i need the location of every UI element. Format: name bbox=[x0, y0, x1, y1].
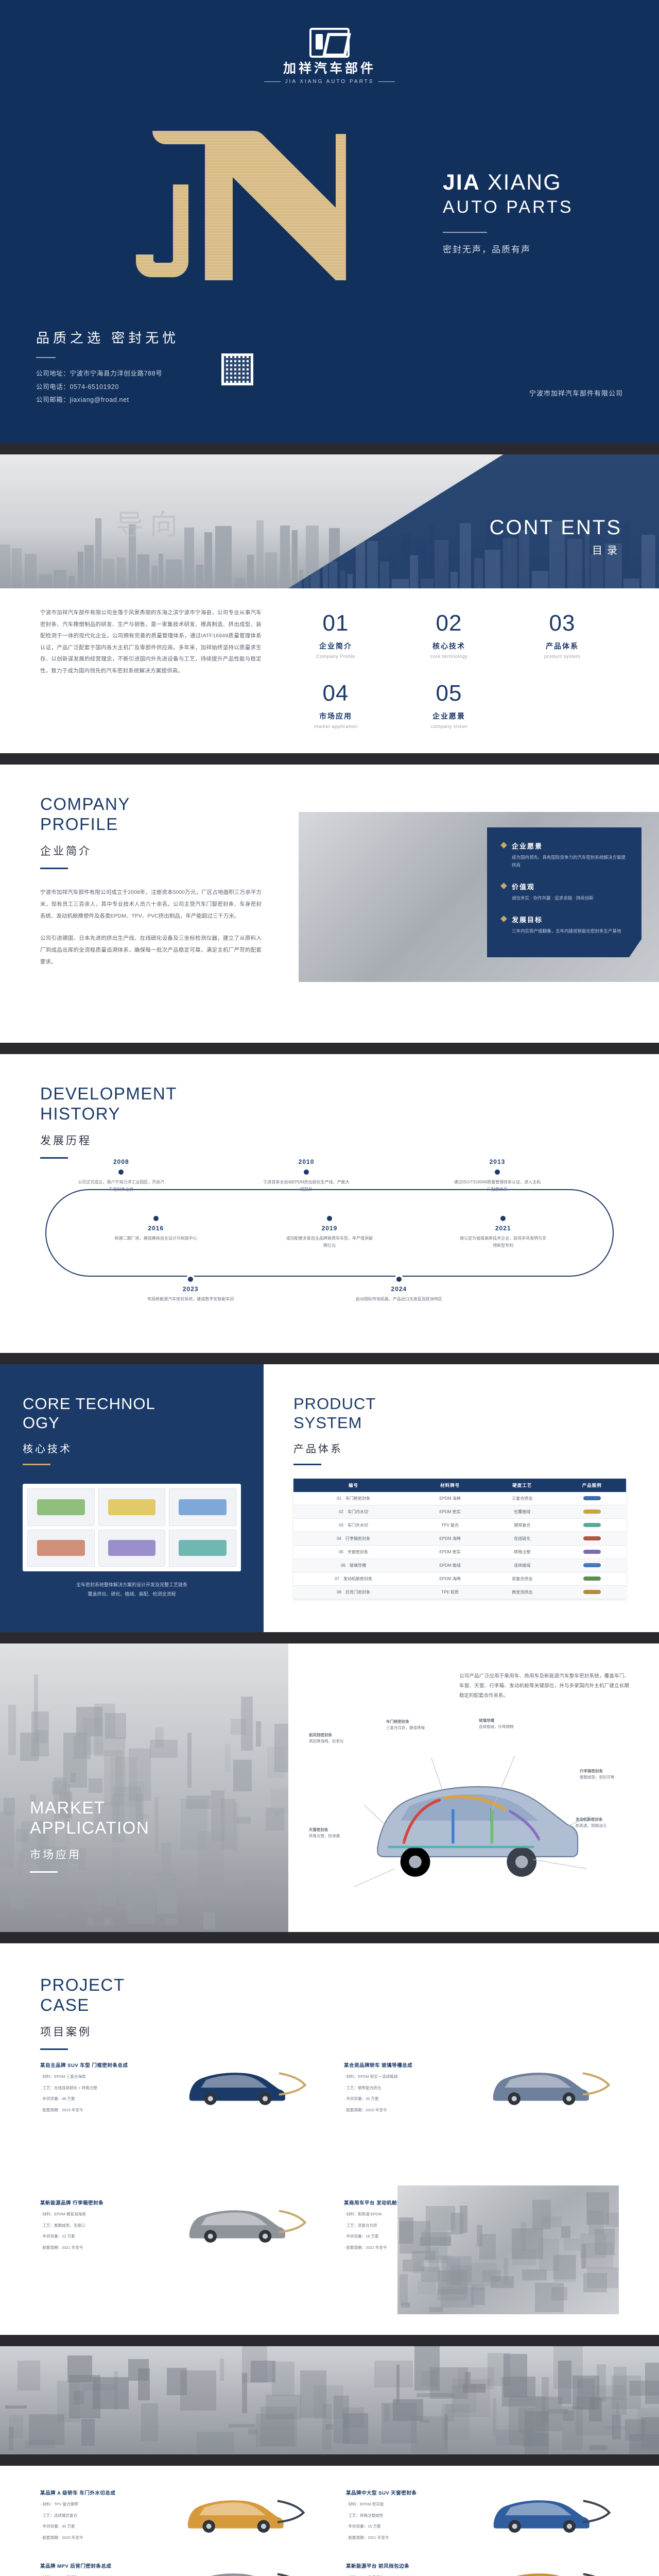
car-silhouette-icon bbox=[174, 2563, 313, 2576]
project-card-line: · 材料：EPDM 微发泡海绵 bbox=[40, 2211, 167, 2218]
logo-mark-icon bbox=[309, 28, 350, 58]
slide-development-history: DEVELOPMENT HISTORY 发展历程 2008 公司正式成立，落户宁… bbox=[0, 1054, 659, 1353]
history-title-en: DEVELOPMENT HISTORY bbox=[40, 1084, 177, 1124]
toc-body: 宁波市加祥汽车部件有限公司坐落于风景秀丽的东海之滨宁波市宁海县，公司专业从事汽车… bbox=[0, 589, 659, 753]
texture-block bbox=[127, 1896, 155, 1924]
texture-block bbox=[74, 1736, 91, 1759]
table-row[interactable]: 04 行李箱密封条EPDM 海绵在线硫化 bbox=[293, 1532, 626, 1546]
seal-profile-icon bbox=[179, 1499, 227, 1515]
toc-heading: CONT ENTS 目录 bbox=[490, 516, 622, 557]
project-card[interactable]: 某自主品牌 SUV 车型 门框密封条总成· 材料：EPDM 三复合海绵· 工艺：… bbox=[40, 2062, 315, 2177]
product-cell-material: EPDM 海绵 bbox=[413, 1532, 487, 1546]
profile-heading: COMPANY PROFILE 企业简介 bbox=[40, 794, 262, 869]
cover-contact-block: 品质之选 密封无忧 公司地址：宁波市宁海县力洋创业路788号 公司电话：0574… bbox=[36, 328, 179, 407]
building-block bbox=[25, 554, 37, 588]
texture-block bbox=[522, 2269, 547, 2280]
callout-title: 发动机舱密封条 bbox=[576, 1817, 603, 1822]
toc-item-label-en: product system bbox=[506, 654, 619, 659]
slide-gap bbox=[0, 1353, 659, 1364]
texture-block bbox=[203, 1912, 215, 1929]
texture-block bbox=[225, 1744, 231, 1772]
project-card-title: 某新能源品牌 行李箱密封条 bbox=[40, 2199, 167, 2207]
case-card-line: · 年供货量：30 万套 bbox=[40, 2523, 166, 2531]
market-callout-2: 车门框密封条 三复合共挤，静音降噪 bbox=[386, 1719, 442, 1731]
texture-block bbox=[418, 2281, 436, 2294]
product-cell-figure bbox=[558, 1559, 626, 1572]
toc-item-number: 01 bbox=[279, 612, 392, 635]
project-card-line: · 配套周期：2021 年至今 bbox=[40, 2244, 167, 2252]
timeline-dot-icon bbox=[153, 1216, 159, 1221]
seal-profile-icon bbox=[108, 1540, 156, 1556]
texture-block bbox=[583, 2243, 613, 2268]
texture-block bbox=[438, 2270, 467, 2294]
seal-profile-swatch-icon bbox=[583, 1577, 601, 1581]
logo-english-text: JIA XIANG AUTO PARTS bbox=[285, 79, 374, 84]
qr-code-icon bbox=[221, 353, 253, 385]
project-title-cn: 项目案例 bbox=[40, 2024, 125, 2039]
market-callout-6: 天窗密封条 转角注塑，防渗漏 bbox=[309, 1827, 358, 1839]
timeline-year: 2019 bbox=[281, 1225, 378, 1232]
texture-block bbox=[180, 2370, 216, 2411]
texture-block bbox=[57, 1873, 60, 1893]
product-title-en-l2: SYSTEM bbox=[293, 1414, 362, 1432]
toc-item-label-en: market application bbox=[279, 724, 392, 730]
tech-cell-1 bbox=[27, 1488, 95, 1526]
slide-gap bbox=[0, 443, 659, 454]
texture-block bbox=[342, 2408, 364, 2428]
building-block bbox=[435, 540, 448, 588]
table-row[interactable]: 01 车门框密封条EPDM 海绵三复合挤出 bbox=[293, 1492, 626, 1505]
texture-block bbox=[425, 2230, 447, 2263]
toc-item-04[interactable]: 04 市场应用 market application bbox=[279, 682, 392, 730]
slide-gap bbox=[0, 1932, 659, 1943]
case-card-line: · 材料：EPDM 密实胶 bbox=[346, 2501, 472, 2509]
toc-item-label-en: core technology bbox=[392, 654, 506, 659]
texture-block bbox=[541, 2216, 562, 2227]
texture-block bbox=[564, 2239, 580, 2251]
market-callout-1: 前风挡密封条 高回弹海绵，抗老化 bbox=[309, 1732, 358, 1744]
slide-gap bbox=[0, 1043, 659, 1054]
seal-profile-swatch-icon bbox=[583, 1590, 601, 1594]
market-heading: MARKET APPLICATION 市场应用 bbox=[30, 1798, 149, 1873]
texture-block bbox=[477, 2225, 482, 2246]
timeline-text: 布局新能源汽车密封系统，建成数字化智能车间 bbox=[142, 1296, 239, 1303]
toc-intro-paragraph: 宁波市加祥汽车部件有限公司坐落于风景秀丽的东海之滨宁波市宁海县，公司专业从事汽车… bbox=[40, 607, 262, 676]
cover-title-jia: JIA bbox=[443, 170, 480, 195]
texture-block bbox=[504, 2258, 508, 2284]
history-title-en-l1: DEVELOPMENT bbox=[40, 1084, 177, 1103]
tech-cell-4 bbox=[27, 1530, 95, 1567]
texture-block bbox=[583, 2273, 607, 2292]
texture-block bbox=[25, 1892, 38, 1897]
case-card-line: · 年供货量：15 万套 bbox=[346, 2523, 472, 2531]
company-logo: 加祥汽车部件 JIA XIANG AUTO PARTS bbox=[242, 28, 417, 84]
product-cell-no: 07 发动机舱密封条 bbox=[293, 1572, 413, 1586]
qr-code-cells bbox=[224, 356, 251, 383]
core-technology-pane: CORE TECHNOL OGY 核心技术 全车密封系统整体解决方案的设计开发及… bbox=[0, 1364, 264, 1632]
texture-block bbox=[242, 2373, 247, 2413]
toc-title-en: CONT ENTS bbox=[490, 516, 622, 539]
market-callout-4: 行李箱密封条 整圈成型，密封可靠 bbox=[580, 1768, 629, 1781]
building-block bbox=[247, 555, 254, 588]
toc-item-02[interactable]: 02 核心技术 core technology bbox=[392, 612, 506, 659]
toc-item-label-cn: 企业愿景 bbox=[392, 711, 506, 721]
logo-chinese-name: 加祥汽车部件 bbox=[242, 62, 417, 76]
building-block bbox=[392, 579, 409, 588]
table-row[interactable]: 03 车门外水切TPV 复合钢带复合 bbox=[293, 1519, 626, 1532]
project-card[interactable]: 某合资品牌轿车 玻璃导槽总成· 材料：EPDM 密实 + 连续植绒· 工艺：钢带… bbox=[344, 2062, 619, 2177]
toc-item-label-cn: 核心技术 bbox=[392, 641, 506, 651]
building-block bbox=[152, 566, 158, 588]
toc-item-number: 04 bbox=[279, 682, 392, 705]
texture-block bbox=[56, 1914, 66, 1918]
texture-block bbox=[18, 1852, 23, 1876]
profile-title-cn: 企业简介 bbox=[40, 843, 262, 858]
case-card-title: 某品牌 MPV 后背门密封条总成 bbox=[40, 2563, 166, 2570]
texture-block bbox=[251, 2361, 275, 2382]
project-title-en-l1: PROJECT bbox=[40, 1975, 125, 1994]
product-col-material: 材料牌号 bbox=[413, 1479, 487, 1492]
project-card-line: · 年供货量：22 万套 bbox=[40, 2233, 167, 2241]
project-card-line: · 年供货量：48 万套 bbox=[40, 2095, 167, 2103]
seal-profile-swatch-icon bbox=[583, 1563, 601, 1567]
texture-block bbox=[87, 1917, 93, 1926]
product-cell-process: 包覆植绒 bbox=[487, 1505, 558, 1519]
slide-cover: 加祥汽车部件 JIA XIANG AUTO PARTS bbox=[0, 0, 659, 443]
timeline-text: 通过ISO/TS16949质量管理体系认证，进入主机厂配套体系 bbox=[448, 1179, 546, 1193]
timeline-dot-icon bbox=[188, 1277, 193, 1282]
texture-block bbox=[150, 1740, 178, 1758]
callout-desc: 三复合共挤，静音降噪 bbox=[386, 1725, 425, 1730]
product-cell-no: 04 行李箱密封条 bbox=[293, 1532, 413, 1546]
profile-paragraph-2: 公司引进德国、日本先进的挤出生产线、在线硫化设备及三坐标检测仪器，建立了从原料入… bbox=[40, 933, 262, 968]
tech-cell-5 bbox=[98, 1530, 166, 1567]
texture-block bbox=[325, 2424, 333, 2430]
timeline-node-2023[interactable]: 2023 布局新能源汽车密封系统，建成数字化智能车间 bbox=[142, 1277, 239, 1303]
market-callout-5: 发动机舱密封条 耐高温，阻隔油污 bbox=[576, 1817, 629, 1829]
timeline-year: 2010 bbox=[257, 1158, 355, 1165]
profile-card-desc: 成为国内领先、具有国际竞争力的汽车密封系统解决方案提供商 bbox=[512, 854, 627, 869]
tech-diagram-grid bbox=[23, 1484, 241, 1571]
project-card-line: · 材料：EPDM 密实 + 连续植绒 bbox=[344, 2073, 471, 2081]
building-block bbox=[623, 579, 639, 588]
profile-title-en-l1: COMPANY bbox=[40, 794, 130, 814]
project-card-art bbox=[479, 2062, 619, 2109]
case-card-title: 某新能源平台 前风挡包边条 bbox=[346, 2563, 472, 2570]
project-card-title: 某合资品牌轿车 玻璃导槽总成 bbox=[344, 2062, 471, 2070]
cover-title-line1: JIA XIANG bbox=[443, 170, 574, 195]
texture-block bbox=[414, 2346, 440, 2391]
tech-cell-2 bbox=[98, 1488, 166, 1526]
texture-block bbox=[9, 2427, 13, 2451]
texture-block bbox=[8, 1705, 16, 1755]
callout-desc: 高回弹海绵，抗老化 bbox=[309, 1739, 344, 1743]
callout-title: 前风挡密封条 bbox=[309, 1733, 332, 1737]
tech-title-en-l2: OGY bbox=[23, 1414, 60, 1432]
slide-road-strip-photo bbox=[0, 2346, 659, 2454]
texture-block bbox=[104, 1917, 111, 1925]
tech-title-cn: 核心技术 bbox=[23, 1440, 241, 1455]
slide-gap bbox=[0, 1632, 659, 1643]
building-block bbox=[367, 541, 378, 588]
product-cell-figure bbox=[558, 1519, 626, 1532]
case-card[interactable]: 某品牌 A 级轿车 车门外水切总成· 材料：TPV 复合钢带· 工艺：连续辊压复… bbox=[40, 2489, 313, 2542]
timeline-text: 新建二期厂房，建成模具自主设计与制造中心 bbox=[107, 1235, 205, 1242]
building-block bbox=[265, 552, 277, 588]
texture-block bbox=[237, 1817, 251, 1824]
product-title-en: PRODUCT SYSTEM bbox=[293, 1394, 626, 1432]
history-heading: DEVELOPMENT HISTORY 发展历程 bbox=[40, 1084, 177, 1159]
seal-profile-icon bbox=[179, 1540, 227, 1556]
product-col-process: 硬度工艺 bbox=[487, 1479, 558, 1492]
market-title-en: MARKET APPLICATION bbox=[30, 1798, 149, 1838]
texture-block bbox=[400, 2274, 408, 2305]
tech-cell-3 bbox=[169, 1488, 236, 1526]
market-title-en-l1: MARKET bbox=[30, 1798, 106, 1817]
product-cell-no: 06 玻璃导槽 bbox=[293, 1559, 413, 1572]
slide-gap bbox=[0, 2454, 659, 2466]
table-row[interactable]: 07 发动机舱密封条EPDM 海绵双复合挤出 bbox=[293, 1572, 626, 1586]
texture-block bbox=[185, 1895, 206, 1902]
tech-title-en: CORE TECHNOL OGY bbox=[23, 1394, 241, 1432]
contact-phone: 公司电话：0574-65101920 bbox=[36, 381, 179, 394]
logo-english-name: JIA XIANG AUTO PARTS bbox=[242, 79, 417, 84]
timeline-text: 成功配套多家自主品牌乘用车车型，年产值突破两亿元 bbox=[281, 1235, 378, 1249]
case-card-art bbox=[480, 2563, 619, 2576]
table-row[interactable]: 06 玻璃导槽EPDM 植绒连续植绒 bbox=[293, 1559, 626, 1572]
case-gallery-grid: 某品牌 A 级轿车 车门外水切总成· 材料：TPV 复合钢带· 工艺：连续辊压复… bbox=[40, 2489, 619, 2576]
history-title-rule bbox=[40, 1157, 68, 1159]
product-cell-figure bbox=[558, 1505, 626, 1519]
timeline-dot-icon bbox=[118, 1170, 124, 1175]
case-card-line: · 工艺：转角注塑成型 bbox=[346, 2512, 472, 2520]
profile-card-row-vision: 企业愿景 成为国内领先、具有国际竞争力的汽车密封系统解决方案提供商 bbox=[501, 841, 627, 869]
slide-tech-and-products: CORE TECHNOL OGY 核心技术 全车密封系统整体解决方案的设计开发及… bbox=[0, 1364, 659, 1632]
project-card-art bbox=[175, 2062, 315, 2109]
building-block bbox=[166, 560, 182, 588]
building-block bbox=[12, 548, 22, 588]
diamond-bullet-icon bbox=[500, 842, 507, 849]
building-block bbox=[215, 526, 232, 588]
seal-profile-swatch-icon bbox=[583, 1550, 601, 1554]
toc-title-cn: 目录 bbox=[490, 542, 622, 557]
product-cell-figure bbox=[558, 1572, 626, 1586]
product-cell-process: 转角注塑 bbox=[487, 1546, 558, 1559]
seal-profile-swatch-icon bbox=[583, 1496, 601, 1500]
case-card-line: · 配套周期：2021 年至今 bbox=[346, 2534, 472, 2542]
texture-block bbox=[429, 2307, 443, 2312]
building-block bbox=[117, 557, 126, 588]
case-card[interactable]: 某品牌中大型 SUV 天窗密封条· 材料：EPDM 密实胶· 工艺：转角注塑成型… bbox=[346, 2489, 619, 2542]
product-cell-material: TPE 软质 bbox=[413, 1586, 487, 1599]
building-block bbox=[348, 574, 353, 588]
toc-hero-photo: 导向 CONT ENTS 目录 bbox=[0, 454, 659, 588]
history-title-cn: 发展历程 bbox=[40, 1132, 177, 1148]
project-title-en-l2: CASE bbox=[40, 1995, 90, 2014]
callout-desc: 连续植绒，升降顺畅 bbox=[479, 1724, 514, 1729]
building-block bbox=[641, 535, 655, 588]
timeline-year: 2024 bbox=[350, 1285, 448, 1293]
timeline-dot-icon bbox=[327, 1216, 332, 1221]
case-card-art bbox=[174, 2563, 313, 2576]
timeline-node-2021[interactable]: 2021 被认定为省级高新技术企业，获得多项发明与实用新型专利 bbox=[454, 1216, 552, 1249]
texture-block bbox=[132, 1872, 161, 1876]
table-row[interactable]: 08 后背门密封条TPE 软质微发泡挤出 bbox=[293, 1586, 626, 1599]
timeline-dot-icon bbox=[495, 1170, 500, 1175]
timeline-text: 引进首条全自动EPDM挤出硫化生产线，产能大幅提升 bbox=[257, 1179, 355, 1193]
timeline-node-2013[interactable]: 2013 通过ISO/TS16949质量管理体系认证，进入主机厂配套体系 bbox=[448, 1158, 546, 1193]
texture-block bbox=[411, 2416, 448, 2454]
logo-rule-left bbox=[264, 81, 281, 82]
texture-block bbox=[589, 2445, 608, 2450]
texture-block bbox=[81, 2419, 95, 2446]
texture-block bbox=[97, 1892, 116, 1905]
product-cell-no: 08 后背门密封条 bbox=[293, 1586, 413, 1599]
table-row[interactable]: 05 天窗密封条EPDM 密实转角注塑 bbox=[293, 1546, 626, 1559]
texture-block bbox=[512, 2228, 543, 2259]
timeline-year: 2021 bbox=[454, 1225, 552, 1232]
project-card[interactable]: 某新能源品牌 行李箱密封条· 材料：EPDM 微发泡海绵· 工艺：整圈成型，无接… bbox=[40, 2199, 315, 2314]
toc-item-01[interactable]: 01 企业简介 Company Profile bbox=[279, 612, 392, 659]
timeline-node-2016[interactable]: 2016 新建二期厂房，建成模具自主设计与制造中心 bbox=[107, 1216, 205, 1242]
project-card-text: 某合资品牌轿车 玻璃导槽总成· 材料：EPDM 密实 + 连续植绒· 工艺：钢带… bbox=[344, 2062, 471, 2114]
contact-email: 公司邮箱：jiaxiang@froad.net bbox=[36, 394, 179, 407]
table-row[interactable]: 02 车门内水切EPDM 密实包覆植绒 bbox=[293, 1505, 626, 1519]
car-silhouette-icon bbox=[480, 2563, 619, 2576]
product-cell-no: 02 车门内水切 bbox=[293, 1505, 413, 1519]
product-cell-figure bbox=[558, 1492, 626, 1505]
texture-block bbox=[553, 2255, 576, 2279]
timeline-node-2019[interactable]: 2019 成功配套多家自主品牌乘用车车型，年产值突破两亿元 bbox=[281, 1216, 378, 1249]
slide-project-case: PROJECT CASE 项目案例 某自主品牌 SUV 车型 门框密封条总成· … bbox=[0, 1943, 659, 2335]
cover-slogan: 品质之选 密封无忧 bbox=[36, 328, 179, 347]
case-card-title: 某品牌 A 级轿车 车门外水切总成 bbox=[40, 2489, 166, 2497]
timeline-node-2010[interactable]: 2010 引进首条全自动EPDM挤出硫化生产线，产能大幅提升 bbox=[257, 1158, 355, 1193]
texture-block bbox=[586, 2192, 609, 2225]
texture-block bbox=[5, 2405, 27, 2409]
seal-profile-swatch-icon bbox=[583, 1523, 601, 1527]
texture-block bbox=[274, 1724, 288, 1772]
slide-table-of-contents: 导向 CONT ENTS 目录 宁波市加祥汽车部件有限公司坐落于风景秀丽的东海之… bbox=[0, 454, 659, 753]
car-silhouette-icon bbox=[174, 2489, 313, 2537]
building-block bbox=[39, 574, 52, 588]
cover-title-rule bbox=[443, 232, 487, 233]
texture-block bbox=[645, 2363, 659, 2404]
case-card-title: 某品牌中大型 SUV 天窗密封条 bbox=[346, 2489, 472, 2497]
texture-block bbox=[374, 2361, 413, 2387]
building-block bbox=[234, 578, 246, 588]
car-silhouette-icon bbox=[175, 2062, 315, 2109]
building-block bbox=[204, 532, 212, 588]
case-card-text: 某品牌 A 级轿车 车门外水切总成· 材料：TPV 复合钢带· 工艺：连续辊压复… bbox=[40, 2489, 166, 2542]
building-block bbox=[380, 562, 389, 588]
slide-gap bbox=[0, 753, 659, 765]
building-block bbox=[450, 572, 458, 588]
callout-desc: 整圈成型，密封可靠 bbox=[580, 1775, 615, 1780]
market-street-photo bbox=[0, 1643, 288, 1932]
texture-block bbox=[141, 2403, 158, 2441]
texture-block bbox=[472, 2284, 484, 2291]
contact-address: 公司地址：宁波市宁海县力洋创业路788号 bbox=[36, 367, 179, 381]
diamond-bullet-icon bbox=[500, 883, 507, 889]
texture-block bbox=[612, 2376, 641, 2409]
market-title-en-l2: APPLICATION bbox=[30, 1818, 149, 1837]
texture-block bbox=[229, 2424, 255, 2428]
market-title-cn: 市场应用 bbox=[30, 1846, 149, 1862]
texture-block bbox=[637, 2408, 659, 2436]
texture-block bbox=[94, 1704, 115, 1756]
product-cell-material: EPDM 植绒 bbox=[413, 1559, 487, 1572]
texture-block bbox=[83, 2384, 117, 2391]
slide-market-application: MARKET APPLICATION 市场应用 公司产品广泛应用于乘用车、商用车… bbox=[0, 1643, 659, 1932]
tech-caption: 全车密封系统整体解决方案的设计开发及完整工艺链条 覆盖挤出、硫化、植绒、装配、检… bbox=[23, 1581, 241, 1599]
case-card[interactable]: 某品牌 MPV 后背门密封条总成· 材料：EPDM 海绵胶· 工艺：整圈在线硫化… bbox=[40, 2563, 313, 2576]
building-block bbox=[95, 518, 101, 588]
texture-block bbox=[233, 1760, 252, 1791]
building-block bbox=[103, 559, 114, 588]
texture-block bbox=[157, 1873, 177, 1913]
project-card-line: · 年供货量：35 万套 bbox=[344, 2095, 471, 2103]
building-block bbox=[78, 552, 83, 588]
building-block bbox=[591, 554, 603, 588]
texture-block bbox=[576, 2397, 614, 2435]
product-cell-process: 三复合挤出 bbox=[487, 1492, 558, 1505]
toc-item-05[interactable]: 05 企业愿景 company vision bbox=[392, 682, 506, 730]
case-card-art bbox=[480, 2489, 619, 2537]
callout-desc: 耐高温，阻隔油污 bbox=[576, 1823, 606, 1828]
product-cell-process: 微发泡挤出 bbox=[487, 1586, 558, 1599]
texture-block bbox=[181, 1799, 207, 1850]
timeline-node-2008[interactable]: 2008 公司正式成立，落户宁海力洋工业园区，开启汽车密封条业务 bbox=[72, 1158, 170, 1193]
toc-item-label-cn: 市场应用 bbox=[279, 711, 392, 721]
cover-tagline: 密封无声，品质有声 bbox=[443, 242, 574, 255]
building-block bbox=[68, 576, 75, 588]
callout-title: 玻璃导槽 bbox=[479, 1718, 494, 1723]
callout-title: 天窗密封条 bbox=[309, 1827, 328, 1832]
texture-block bbox=[241, 1697, 253, 1751]
history-title-en-l2: HISTORY bbox=[40, 1104, 120, 1123]
case-card-text: 某品牌 MPV 后背门密封条总成· 材料：EPDM 海绵胶· 工艺：整圈在线硫化… bbox=[40, 2563, 166, 2576]
project-card-art bbox=[175, 2199, 315, 2247]
texture-block bbox=[403, 2260, 424, 2272]
seal-profile-icon bbox=[37, 1499, 85, 1515]
product-cell-no: 05 天窗密封条 bbox=[293, 1546, 413, 1559]
case-card-line: · 材料：EPDM 海绵胶 bbox=[40, 2574, 166, 2576]
product-cell-material: EPDM 密实 bbox=[413, 1505, 487, 1519]
texture-block bbox=[399, 2217, 413, 2244]
toc-item-label-cn: 企业简介 bbox=[279, 641, 392, 651]
product-cell-process: 在线硫化 bbox=[487, 1532, 558, 1546]
product-cell-material: EPDM 海绵 bbox=[413, 1492, 487, 1505]
market-right-column: 公司产品广泛应用于乘用车、商用车及新能源汽车整车密封系统，覆盖车门、车窗、天窗、… bbox=[309, 1671, 629, 1911]
building-block bbox=[474, 558, 483, 588]
seal-profile-swatch-icon bbox=[583, 1510, 601, 1514]
cover-contact-rule bbox=[36, 357, 56, 358]
profile-highlight-card: 企业愿景 成为国内领先、具有国际竞争力的汽车密封系统解决方案提供商 价值观 诚信… bbox=[487, 827, 641, 957]
market-callout-3: 玻璃导槽 连续植绒，升降顺畅 bbox=[479, 1718, 530, 1730]
timeline-node-2024[interactable]: 2024 启动国际市场拓展，产品出口东南亚及欧洲地区 bbox=[350, 1277, 448, 1303]
toc-item-03[interactable]: 03 产品体系 product system bbox=[506, 612, 619, 659]
case-card[interactable]: 某新能源平台 前风挡包边条· 材料：TPE 软质包边· 工艺：微发泡共挤· 年供… bbox=[346, 2563, 619, 2576]
toc-item-label-en: company vision bbox=[392, 724, 506, 730]
building-block bbox=[292, 530, 298, 588]
product-table-body: 01 车门框密封条EPDM 海绵三复合挤出02 车门内水切EPDM 密实包覆植绒… bbox=[293, 1492, 626, 1599]
project-card-line: · 材料：EPDM 三复合海绵 bbox=[40, 2073, 167, 2081]
product-system-pane: PRODUCT SYSTEM 产品体系 编号 材料牌号 硬度工艺 产品图例 01… bbox=[264, 1364, 659, 1632]
toc-watermark: 导向 bbox=[116, 502, 184, 543]
market-car-diagram: 前风挡密封条 高回弹海绵，抗老化 车门框密封条 三复合共挤，静音降噪 玻璃导槽 … bbox=[309, 1721, 629, 1911]
texture-block bbox=[275, 1812, 279, 1817]
